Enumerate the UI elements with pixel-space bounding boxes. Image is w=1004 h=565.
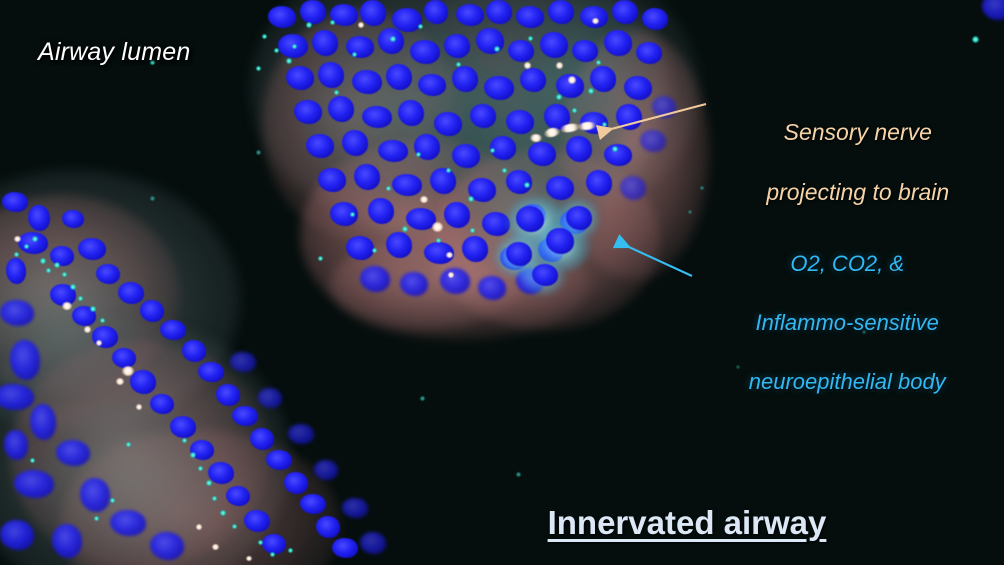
neb-label-line2: Inflammo-sensitive (756, 310, 939, 335)
figure-title: Innervated airway neuroepithelial body. (452, 404, 922, 565)
neb-label-line3: neuroepithelial body (749, 369, 946, 394)
figure-title-line1: Innervated airway (452, 499, 922, 547)
neb-label-line1: O2, CO2, & (790, 251, 904, 276)
sensory-nerve-label: Sensory nerve projecting to brain (700, 88, 990, 237)
neuroepithelial-body-label: O2, CO2, & Inflammo-sensitive neuroepith… (680, 220, 990, 426)
microscopy-figure: Airway lumen Sensory nerve projecting to… (0, 0, 1004, 565)
sensory-nerve-label-line1: Sensory nerve (784, 119, 932, 145)
sensory-nerve-label-line2: projecting to brain (766, 179, 949, 205)
airway-lumen-label: Airway lumen (38, 38, 190, 67)
